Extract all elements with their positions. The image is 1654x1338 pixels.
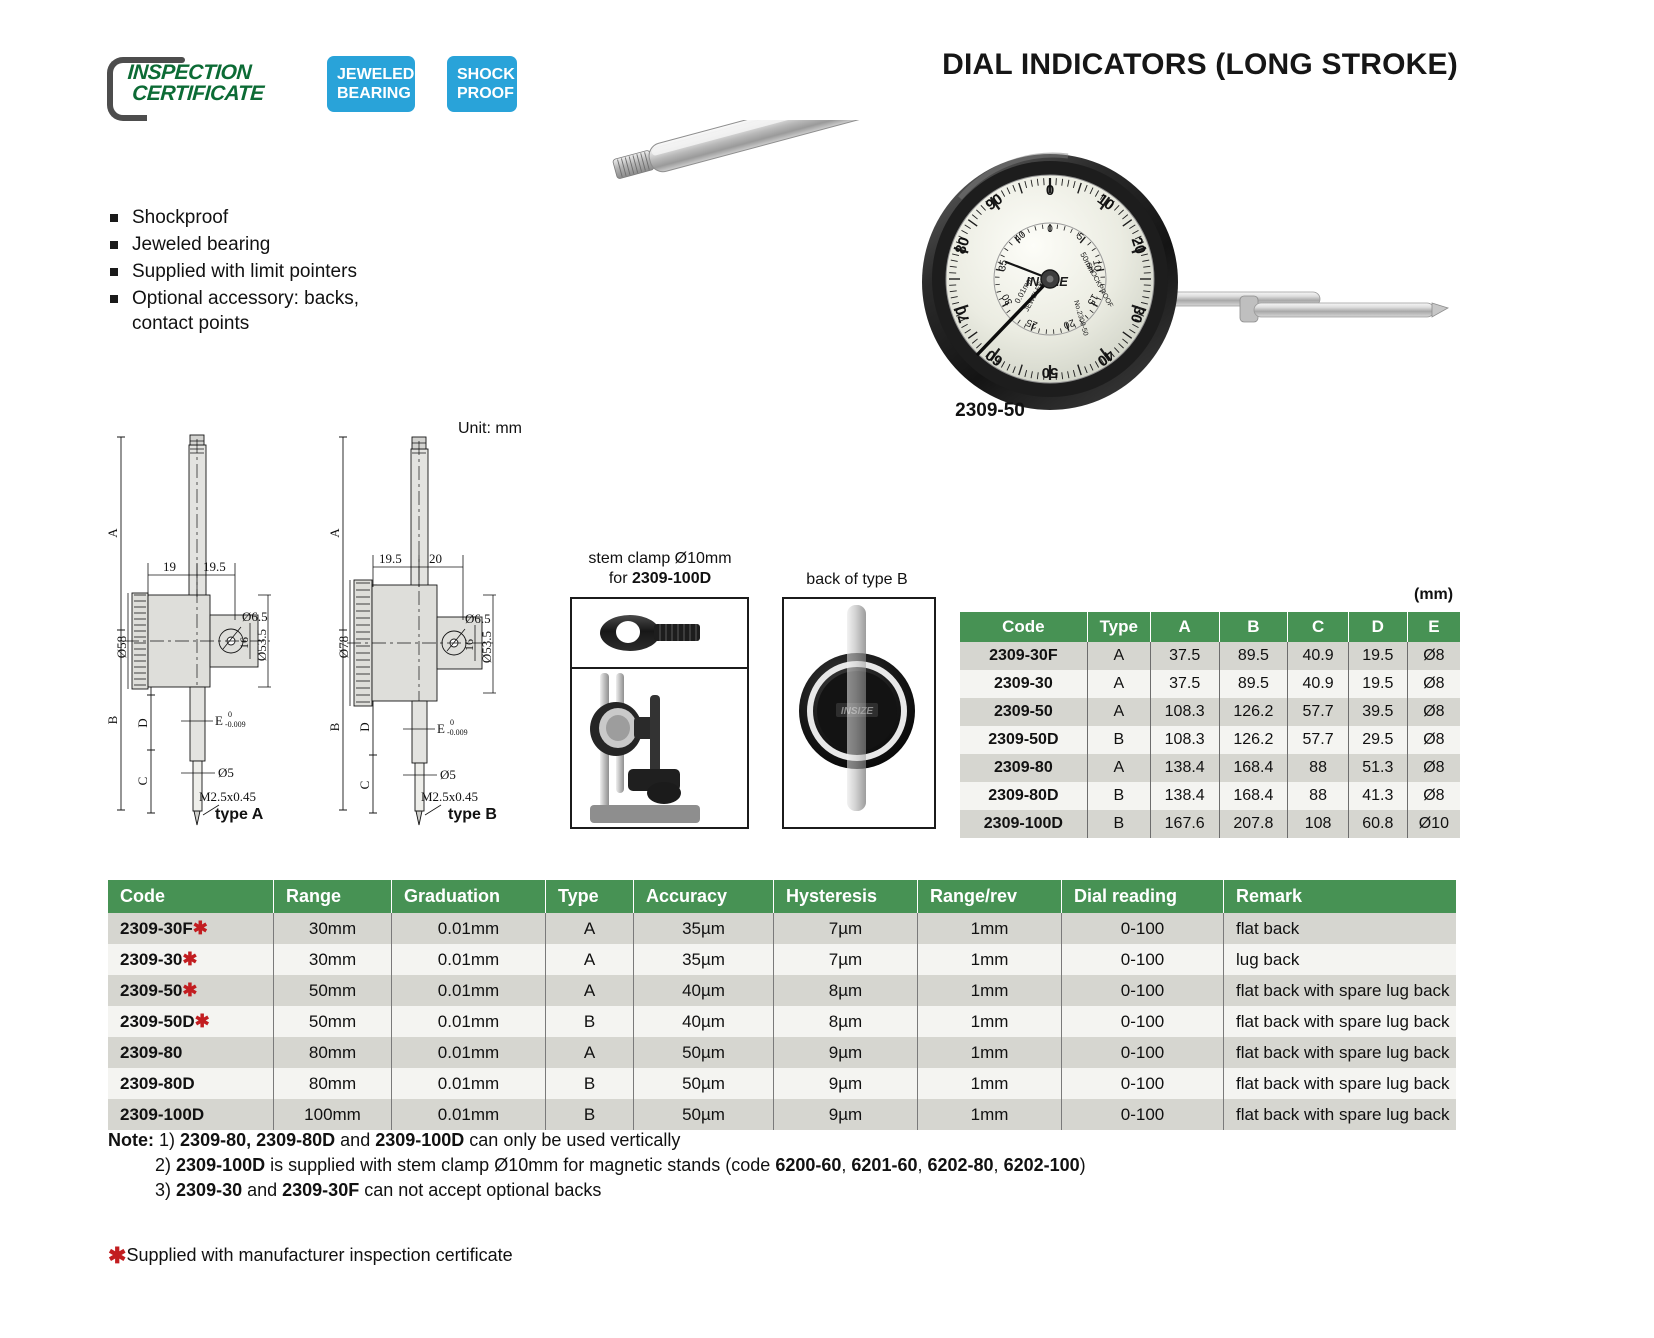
note-code: 2309-100D — [176, 1155, 265, 1175]
product-photo-dial-indicator: 0 10 20 30 40 50 60 70 80 90 0 5 10 15 2… — [600, 120, 1480, 410]
spec-cell-remark: flat back with spare lug back — [1224, 1068, 1457, 1099]
feature-label: Jeweled bearing — [132, 234, 270, 255]
spec-cell-hysteresis: 9µm — [774, 1037, 918, 1068]
spec-cell-dial-reading: 0-100 — [1062, 1099, 1224, 1130]
note-text: 2309-30 and 2309-30F can not accept opti… — [176, 1180, 601, 1200]
spec-cell-range: 30mm — [274, 913, 392, 944]
svg-text:C: C — [357, 781, 372, 790]
spec-cell-accuracy: 35µm — [634, 944, 774, 975]
dim-th-code: Code — [960, 612, 1087, 642]
table-row: 2309-80D80mm0.01mmB50µm9µm1mm0-100flat b… — [108, 1068, 1456, 1099]
dim-cell-code: 2309-100D — [960, 810, 1087, 838]
spec-cell-type: A — [546, 944, 634, 975]
spec-cell-code: 2309-100D — [108, 1099, 274, 1130]
back-type-b-photo-frame: INSIZE — [782, 597, 936, 829]
dim-cell-c: 57.7 — [1288, 698, 1349, 726]
note-code: 6200-60 — [775, 1155, 841, 1175]
note-code: 2309-30F — [282, 1180, 359, 1200]
spec-cell-type: B — [546, 1006, 634, 1037]
dim-cell-code: 2309-80 — [960, 754, 1087, 782]
note-fragment: , — [841, 1155, 851, 1175]
certificate-logo-text: INSPECTION CERTIFICATE — [126, 62, 266, 104]
note-fragment: and — [335, 1130, 375, 1150]
svg-text:A: A — [105, 528, 120, 538]
svg-text:0: 0 — [450, 718, 454, 727]
svg-text:Ø78: Ø78 — [336, 636, 351, 658]
square-bullet-icon — [110, 268, 118, 276]
note-fragment: ) — [1080, 1155, 1086, 1175]
spec-cell-dial-reading: 0-100 — [1062, 1037, 1224, 1068]
drawing-caption-type-a: type A — [215, 806, 263, 824]
table-row: 2309-8080mm0.01mmA50µm9µm1mm0-100flat ba… — [108, 1037, 1456, 1068]
spec-th-dial-reading: Dial reading — [1062, 880, 1224, 913]
svg-text:-0.009: -0.009 — [447, 728, 468, 737]
dim-cell-e: Ø8 — [1407, 670, 1460, 698]
dim-cell-a: 37.5 — [1150, 642, 1219, 670]
dim-cell-type: A — [1087, 698, 1150, 726]
dim-cell-b: 168.4 — [1219, 782, 1288, 810]
note-item: Note: 1) 2309-80, 2309-80D and 2309-100D… — [108, 1128, 1408, 1153]
dim-table-header-row: Code Type A B C D E — [960, 612, 1460, 642]
svg-text:Ø5: Ø5 — [440, 767, 456, 782]
spec-th-graduation: Graduation — [392, 880, 546, 913]
dim-cell-c: 40.9 — [1288, 642, 1349, 670]
dim-cell-type: A — [1087, 670, 1150, 698]
note-text: 2309-100D is supplied with stem clamp Ø1… — [176, 1155, 1086, 1175]
spec-cell-type: A — [546, 1037, 634, 1068]
asterisk-icon: ✱ — [182, 949, 197, 969]
dim-cell-code: 2309-50 — [960, 698, 1087, 726]
svg-text:Ø6.5: Ø6.5 — [465, 611, 491, 626]
svg-text:19: 19 — [163, 559, 176, 574]
spec-cell-hysteresis: 8µm — [774, 975, 918, 1006]
dim-cell-code: 2309-30F — [960, 642, 1087, 670]
svg-text:M2.5x0.45: M2.5x0.45 — [199, 789, 256, 804]
svg-text:E: E — [437, 721, 445, 736]
certificate-logo-line2: CERTIFICATE — [132, 83, 265, 104]
dim-th-c: C — [1288, 612, 1349, 642]
dim-cell-d: 60.8 — [1348, 810, 1407, 838]
spec-cell-graduation: 0.01mm — [392, 1068, 546, 1099]
spec-cell-graduation: 0.01mm — [392, 1006, 546, 1037]
dim-cell-d: 41.3 — [1348, 782, 1407, 810]
dim-cell-d: 19.5 — [1348, 670, 1407, 698]
dim-th-type: Type — [1087, 612, 1150, 642]
spec-cell-graduation: 0.01mm — [392, 1037, 546, 1068]
stem-clamp-for-label: for — [609, 570, 632, 587]
note-code: 6201-60 — [851, 1155, 917, 1175]
svg-text:C: C — [135, 777, 150, 786]
spec-cell-range-rev: 1mm — [918, 913, 1062, 944]
svg-text:Ø6.5: Ø6.5 — [242, 609, 268, 624]
svg-text:M2.5x0.45: M2.5x0.45 — [421, 789, 478, 804]
spec-cell-range: 50mm — [274, 975, 392, 1006]
svg-text:0: 0 — [228, 710, 232, 719]
spec-cell-dial-reading: 0-100 — [1062, 1068, 1224, 1099]
spec-th-range: Range — [274, 880, 392, 913]
feature-label: Optional accessory: backs, — [132, 288, 359, 309]
specification-table: Code Range Graduation Type Accuracy Hyst… — [108, 880, 1456, 1130]
spec-cell-code: 2309-50✱ — [108, 975, 274, 1006]
technical-drawings: 19 19.5 Ø58 Ø53.5 16 Ø6.5 E 0 -0.009 Ø5 — [95, 415, 555, 835]
spec-cell-range: 100mm — [274, 1099, 392, 1130]
notes-block: Note: 1) 2309-80, 2309-80D and 2309-100D… — [108, 1128, 1408, 1203]
spec-th-hysteresis: Hysteresis — [774, 880, 918, 913]
table-row: 2309-80DB138.4168.48841.3Ø8 — [960, 782, 1460, 810]
spec-cell-range: 30mm — [274, 944, 392, 975]
dim-cell-a: 138.4 — [1150, 782, 1219, 810]
badge-shock-line1: SHOCK — [457, 65, 507, 84]
note-code: 6202-80 — [927, 1155, 993, 1175]
list-item: Shockproof — [108, 205, 448, 230]
svg-text:0: 0 — [1047, 224, 1053, 235]
note-fragment: , — [994, 1155, 1004, 1175]
dim-cell-type: A — [1087, 642, 1150, 670]
spec-cell-code: 2309-30F✱ — [108, 913, 274, 944]
stem-clamp-photo-frame — [570, 597, 749, 829]
spec-cell-range: 80mm — [274, 1037, 392, 1068]
dim-cell-b: 89.5 — [1219, 670, 1288, 698]
notes-label: Note: — [108, 1130, 154, 1150]
square-bullet-icon — [110, 295, 118, 303]
dim-cell-a: 37.5 — [1150, 670, 1219, 698]
dim-th-e: E — [1407, 612, 1460, 642]
photo-divider — [572, 667, 747, 669]
spec-cell-graduation: 0.01mm — [392, 944, 546, 975]
spec-table-header-row: Code Range Graduation Type Accuracy Hyst… — [108, 880, 1456, 913]
note-code: 2309-80, 2309-80D — [180, 1130, 335, 1150]
svg-text:E: E — [215, 713, 223, 728]
dim-cell-a: 108.3 — [1150, 698, 1219, 726]
badge-jeweled-line1: JEWELED — [337, 65, 405, 84]
spec-cell-accuracy: 50µm — [634, 1068, 774, 1099]
dim-cell-d: 19.5 — [1348, 642, 1407, 670]
feature-label-continued: contact points — [132, 311, 448, 336]
dim-cell-b: 89.5 — [1219, 642, 1288, 670]
spec-cell-accuracy: 35µm — [634, 913, 774, 944]
asterisk-icon: ✱ — [195, 1011, 210, 1031]
dim-th-a: A — [1150, 612, 1219, 642]
square-bullet-icon — [110, 241, 118, 249]
svg-text:16: 16 — [462, 639, 476, 651]
spec-cell-dial-reading: 0-100 — [1062, 944, 1224, 975]
spec-cell-hysteresis: 7µm — [774, 944, 918, 975]
svg-text:50: 50 — [1042, 364, 1059, 381]
svg-text:D: D — [135, 718, 150, 727]
dim-cell-e: Ø8 — [1407, 754, 1460, 782]
svg-text:20: 20 — [429, 551, 442, 566]
spec-cell-code: 2309-80 — [108, 1037, 274, 1068]
dim-cell-e: Ø8 — [1407, 782, 1460, 810]
svg-text:-0.009: -0.009 — [225, 720, 246, 729]
badge-jeweled-bearing: JEWELED BEARING — [327, 56, 415, 112]
dim-th-d: D — [1348, 612, 1407, 642]
dim-cell-type: A — [1087, 754, 1150, 782]
spec-th-accuracy: Accuracy — [634, 880, 774, 913]
table-row: 2309-30FA37.589.540.919.5Ø8 — [960, 642, 1460, 670]
note-item: 2) 2309-100D is supplied with stem clamp… — [108, 1153, 1408, 1178]
dim-table-unit-note: (mm) — [1414, 586, 1453, 604]
stem-clamp-title: stem clamp Ø10mm for 2309-100D — [565, 549, 755, 589]
dim-cell-e: Ø8 — [1407, 726, 1460, 754]
table-row: 2309-30✱30mm0.01mmA35µm7µm1mm0-100lug ba… — [108, 944, 1456, 975]
spec-cell-accuracy: 40µm — [634, 1006, 774, 1037]
table-row: 2309-50D✱50mm0.01mmB40µm8µm1mm0-100flat … — [108, 1006, 1456, 1037]
dim-cell-b: 126.2 — [1219, 726, 1288, 754]
svg-text:19.5: 19.5 — [379, 551, 402, 566]
note-text: 2309-80, 2309-80D and 2309-100D can only… — [180, 1130, 680, 1150]
badge-shock-proof: SHOCK PROOF — [447, 56, 517, 112]
note-code: 6202-100 — [1004, 1155, 1080, 1175]
svg-text:16: 16 — [237, 637, 251, 649]
product-caption: 2309-50 — [880, 400, 1100, 422]
svg-text:Ø58: Ø58 — [114, 636, 129, 658]
spec-cell-graduation: 0.01mm — [392, 975, 546, 1006]
dim-cell-e: Ø8 — [1407, 698, 1460, 726]
dim-cell-b: 168.4 — [1219, 754, 1288, 782]
dim-cell-code: 2309-30 — [960, 670, 1087, 698]
spec-cell-type: A — [546, 975, 634, 1006]
spec-cell-remark: flat back with spare lug back — [1224, 1037, 1457, 1068]
dim-cell-a: 138.4 — [1150, 754, 1219, 782]
spec-cell-range: 50mm — [274, 1006, 392, 1037]
table-row: 2309-30A37.589.540.919.5Ø8 — [960, 670, 1460, 698]
dim-cell-c: 88 — [1288, 782, 1349, 810]
dim-cell-d: 29.5 — [1348, 726, 1407, 754]
spec-cell-type: B — [546, 1099, 634, 1130]
table-row: 2309-50A108.3126.257.739.5Ø8 — [960, 698, 1460, 726]
dim-cell-b: 207.8 — [1219, 810, 1288, 838]
list-item: Supplied with limit pointers — [108, 259, 448, 284]
footnote-text: Supplied with manufacturer inspection ce… — [126, 1245, 512, 1265]
feature-list: Shockproof Jeweled bearing Supplied with… — [108, 205, 448, 338]
note-item: 3) 2309-30 and 2309-30F can not accept o… — [108, 1178, 1408, 1203]
spec-cell-range-rev: 1mm — [918, 1037, 1062, 1068]
table-row: 2309-50✱50mm0.01mmA40µm8µm1mm0-100flat b… — [108, 975, 1456, 1006]
table-row: 2309-80A138.4168.48851.3Ø8 — [960, 754, 1460, 782]
spec-th-code: Code — [108, 880, 274, 913]
back-type-b-title: back of type B — [782, 570, 932, 590]
dim-cell-c: 40.9 — [1288, 670, 1349, 698]
dim-cell-a: 167.6 — [1150, 810, 1219, 838]
spec-cell-dial-reading: 0-100 — [1062, 975, 1224, 1006]
spec-cell-code: 2309-80D — [108, 1068, 274, 1099]
asterisk-icon: ✱ — [193, 918, 208, 938]
spec-cell-range-rev: 1mm — [918, 975, 1062, 1006]
list-item: Jeweled bearing — [108, 232, 448, 257]
spec-cell-code: 2309-50D✱ — [108, 1006, 274, 1037]
badge-shock-line2: PROOF — [457, 84, 507, 103]
spec-cell-remark: lug back — [1224, 944, 1457, 975]
spec-th-range-rev: Range/rev — [918, 880, 1062, 913]
note-fragment: is supplied with stem clamp Ø10mm for ma… — [265, 1155, 775, 1175]
spec-cell-range-rev: 1mm — [918, 1099, 1062, 1130]
dim-cell-a: 108.3 — [1150, 726, 1219, 754]
dim-cell-type: B — [1087, 782, 1150, 810]
page-title: DIAL INDICATORS (LONG STROKE) — [920, 48, 1480, 82]
dimension-table: Code Type A B C D E 2309-30FA37.589.540.… — [960, 612, 1460, 838]
spec-th-remark: Remark — [1224, 880, 1457, 913]
spec-cell-range-rev: 1mm — [918, 944, 1062, 975]
spec-cell-accuracy: 50µm — [634, 1099, 774, 1130]
badge-jeweled-line2: BEARING — [337, 84, 405, 103]
stem-clamp-title-line1: stem clamp Ø10mm — [565, 549, 755, 569]
spec-cell-type: B — [546, 1068, 634, 1099]
spec-cell-range: 80mm — [274, 1068, 392, 1099]
svg-text:Ø53.5: Ø53.5 — [254, 629, 269, 661]
asterisk-icon: ✱ — [108, 1243, 126, 1268]
dim-cell-e: Ø8 — [1407, 642, 1460, 670]
spec-cell-hysteresis: 8µm — [774, 1006, 918, 1037]
svg-text:19.5: 19.5 — [203, 559, 226, 574]
spec-cell-graduation: 0.01mm — [392, 1099, 546, 1130]
spec-cell-remark: flat back with spare lug back — [1224, 975, 1457, 1006]
dim-th-b: B — [1219, 612, 1288, 642]
svg-text:0: 0 — [1046, 182, 1054, 199]
stem-clamp-code: 2309-100D — [632, 570, 711, 587]
spec-cell-hysteresis: 7µm — [774, 913, 918, 944]
spec-cell-dial-reading: 0-100 — [1062, 1006, 1224, 1037]
spec-cell-type: A — [546, 913, 634, 944]
list-item: Optional accessory: backs, contact point… — [108, 286, 448, 336]
dim-cell-d: 39.5 — [1348, 698, 1407, 726]
dim-cell-c: 88 — [1288, 754, 1349, 782]
svg-text:A: A — [327, 528, 342, 538]
spec-cell-remark: flat back with spare lug back — [1224, 1099, 1457, 1130]
dim-cell-type: B — [1087, 810, 1150, 838]
spec-cell-hysteresis: 9µm — [774, 1068, 918, 1099]
note-fragment: can not accept optional backs — [359, 1180, 601, 1200]
spec-cell-code: 2309-30✱ — [108, 944, 274, 975]
note-number: 3) — [155, 1180, 171, 1200]
note-number: 1) — [159, 1130, 175, 1150]
spec-th-type: Type — [546, 880, 634, 913]
inspection-certificate-logo: INSPECTION CERTIFICATE — [105, 55, 305, 115]
dim-cell-d: 51.3 — [1348, 754, 1407, 782]
note-code: 2309-30 — [176, 1180, 242, 1200]
spec-cell-dial-reading: 0-100 — [1062, 913, 1224, 944]
footnote: ✱Supplied with manufacturer inspection c… — [108, 1243, 513, 1269]
dim-cell-code: 2309-80D — [960, 782, 1087, 810]
svg-text:Ø53.5: Ø53.5 — [479, 631, 494, 663]
asterisk-icon: ✱ — [182, 980, 197, 1000]
table-row: 2309-100D100mm0.01mmB50µm9µm1mm0-100flat… — [108, 1099, 1456, 1130]
spec-cell-remark: flat back with spare lug back — [1224, 1006, 1457, 1037]
dim-cell-e: Ø10 — [1407, 810, 1460, 838]
table-row: 2309-30F✱30mm0.01mmA35µm7µm1mm0-100flat … — [108, 913, 1456, 944]
dim-cell-type: B — [1087, 726, 1150, 754]
drawing-caption-type-b: type B — [448, 806, 497, 824]
feature-label: Shockproof — [132, 207, 228, 228]
spec-cell-range-rev: 1mm — [918, 1068, 1062, 1099]
spec-cell-hysteresis: 9µm — [774, 1099, 918, 1130]
svg-text:D: D — [357, 722, 372, 731]
spec-cell-remark: flat back — [1224, 913, 1457, 944]
note-code: 2309-100D — [375, 1130, 464, 1150]
spec-cell-graduation: 0.01mm — [392, 913, 546, 944]
table-row: 2309-50DB108.3126.257.729.5Ø8 — [960, 726, 1460, 754]
stem-clamp-title-line2: for 2309-100D — [565, 569, 755, 589]
note-fragment: can only be used vertically — [464, 1130, 680, 1150]
square-bullet-icon — [110, 214, 118, 222]
svg-text:B: B — [105, 715, 120, 724]
table-row: 2309-100DB167.6207.810860.8Ø10 — [960, 810, 1460, 838]
dim-cell-c: 108 — [1288, 810, 1349, 838]
spec-cell-accuracy: 40µm — [634, 975, 774, 1006]
svg-text:Ø5: Ø5 — [218, 765, 234, 780]
dim-cell-c: 57.7 — [1288, 726, 1349, 754]
feature-label: Supplied with limit pointers — [132, 261, 357, 282]
note-fragment: and — [242, 1180, 282, 1200]
dim-cell-code: 2309-50D — [960, 726, 1087, 754]
spec-cell-range-rev: 1mm — [918, 1006, 1062, 1037]
dim-cell-b: 126.2 — [1219, 698, 1288, 726]
note-fragment: , — [917, 1155, 927, 1175]
certificate-logo-line1: INSPECTION — [127, 62, 266, 83]
note-number: 2) — [155, 1155, 171, 1175]
spec-cell-accuracy: 50µm — [634, 1037, 774, 1068]
svg-text:B: B — [327, 722, 342, 731]
